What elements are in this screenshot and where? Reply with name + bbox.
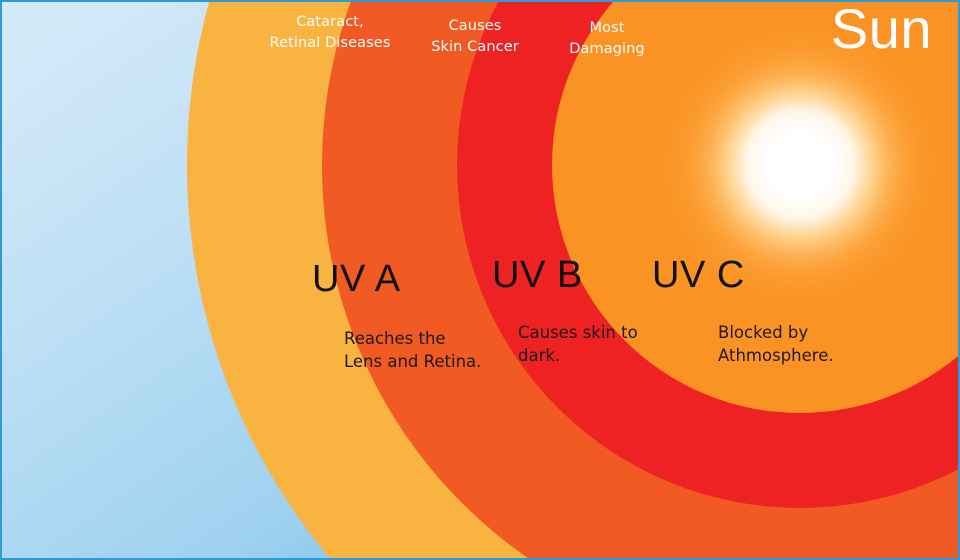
- uv-radiation-diagram: Sun Cataract, Retinal Diseases Causes Sk…: [0, 0, 960, 560]
- sun-core-glow: [650, 15, 950, 315]
- sun-title: Sun: [831, 0, 932, 59]
- diagram-canvas: [2, 2, 958, 558]
